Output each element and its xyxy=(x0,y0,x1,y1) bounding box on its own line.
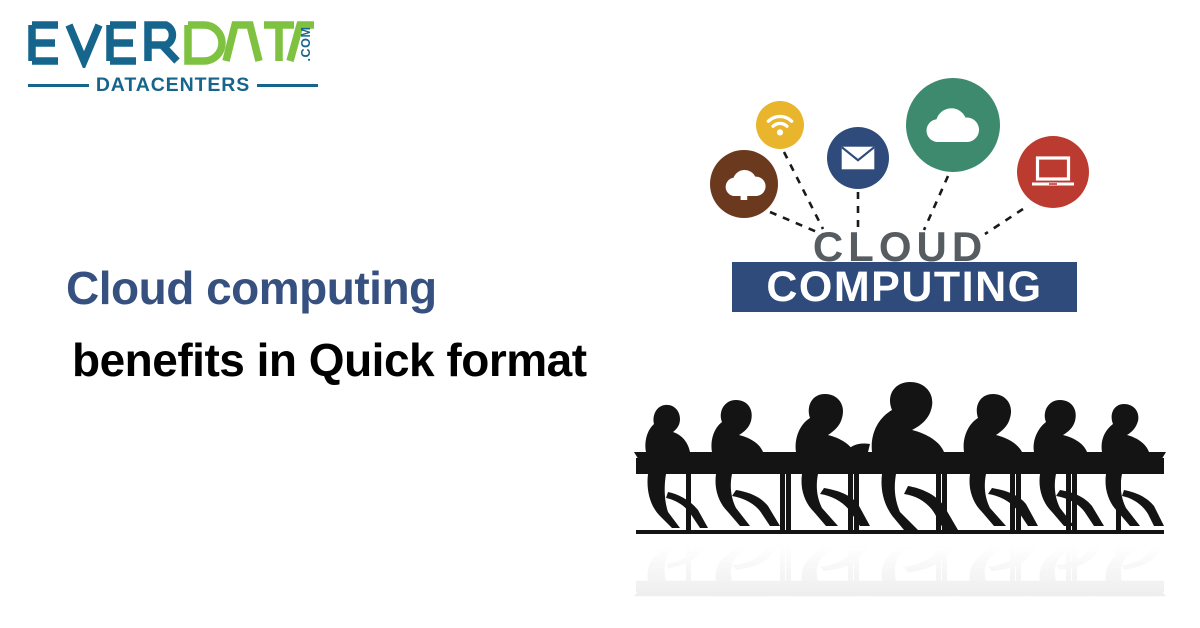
business-meeting-illustration xyxy=(620,378,1180,628)
logo-subline-text: DATACENTERS xyxy=(96,74,250,97)
cloud-icon xyxy=(922,104,984,146)
logo-subline: DATACENTERS xyxy=(28,74,318,96)
headline-line-2: benefits in Quick format xyxy=(66,324,686,396)
logo-wordmark: .COM xyxy=(28,18,318,68)
node-laptop xyxy=(1017,136,1089,208)
laptop-icon xyxy=(1030,155,1076,189)
meeting-reflection xyxy=(620,536,1180,628)
logo-wordmark-svg: .COM xyxy=(28,18,318,68)
node-wifi xyxy=(756,101,804,149)
banner-root: .COM DATACENTERS Cloud computing benefit… xyxy=(0,0,1200,628)
wifi-icon xyxy=(765,113,795,137)
computing-label: COMPUTING xyxy=(766,264,1042,310)
computing-label-band: COMPUTING xyxy=(732,262,1077,312)
headline-line-1: Cloud computing xyxy=(66,252,686,324)
logo-rule-left xyxy=(28,84,89,87)
connector-wifi xyxy=(784,152,823,229)
envelope-icon xyxy=(840,145,876,171)
everdata-logo[interactable]: .COM DATACENTERS xyxy=(28,18,318,96)
meeting-silhouette xyxy=(620,378,1180,538)
logo-rule-right xyxy=(257,84,318,87)
connector-cloud xyxy=(924,176,948,230)
node-cloud xyxy=(906,78,1000,172)
node-email xyxy=(827,127,889,189)
logo-com-text: .COM xyxy=(299,26,313,61)
node-cloud-upload xyxy=(710,150,778,218)
cloud-computing-illustration: CLOUD COMPUTING xyxy=(690,72,1110,322)
page-title: Cloud computing benefits in Quick format xyxy=(66,252,686,396)
cloud-upload-icon xyxy=(721,166,767,202)
